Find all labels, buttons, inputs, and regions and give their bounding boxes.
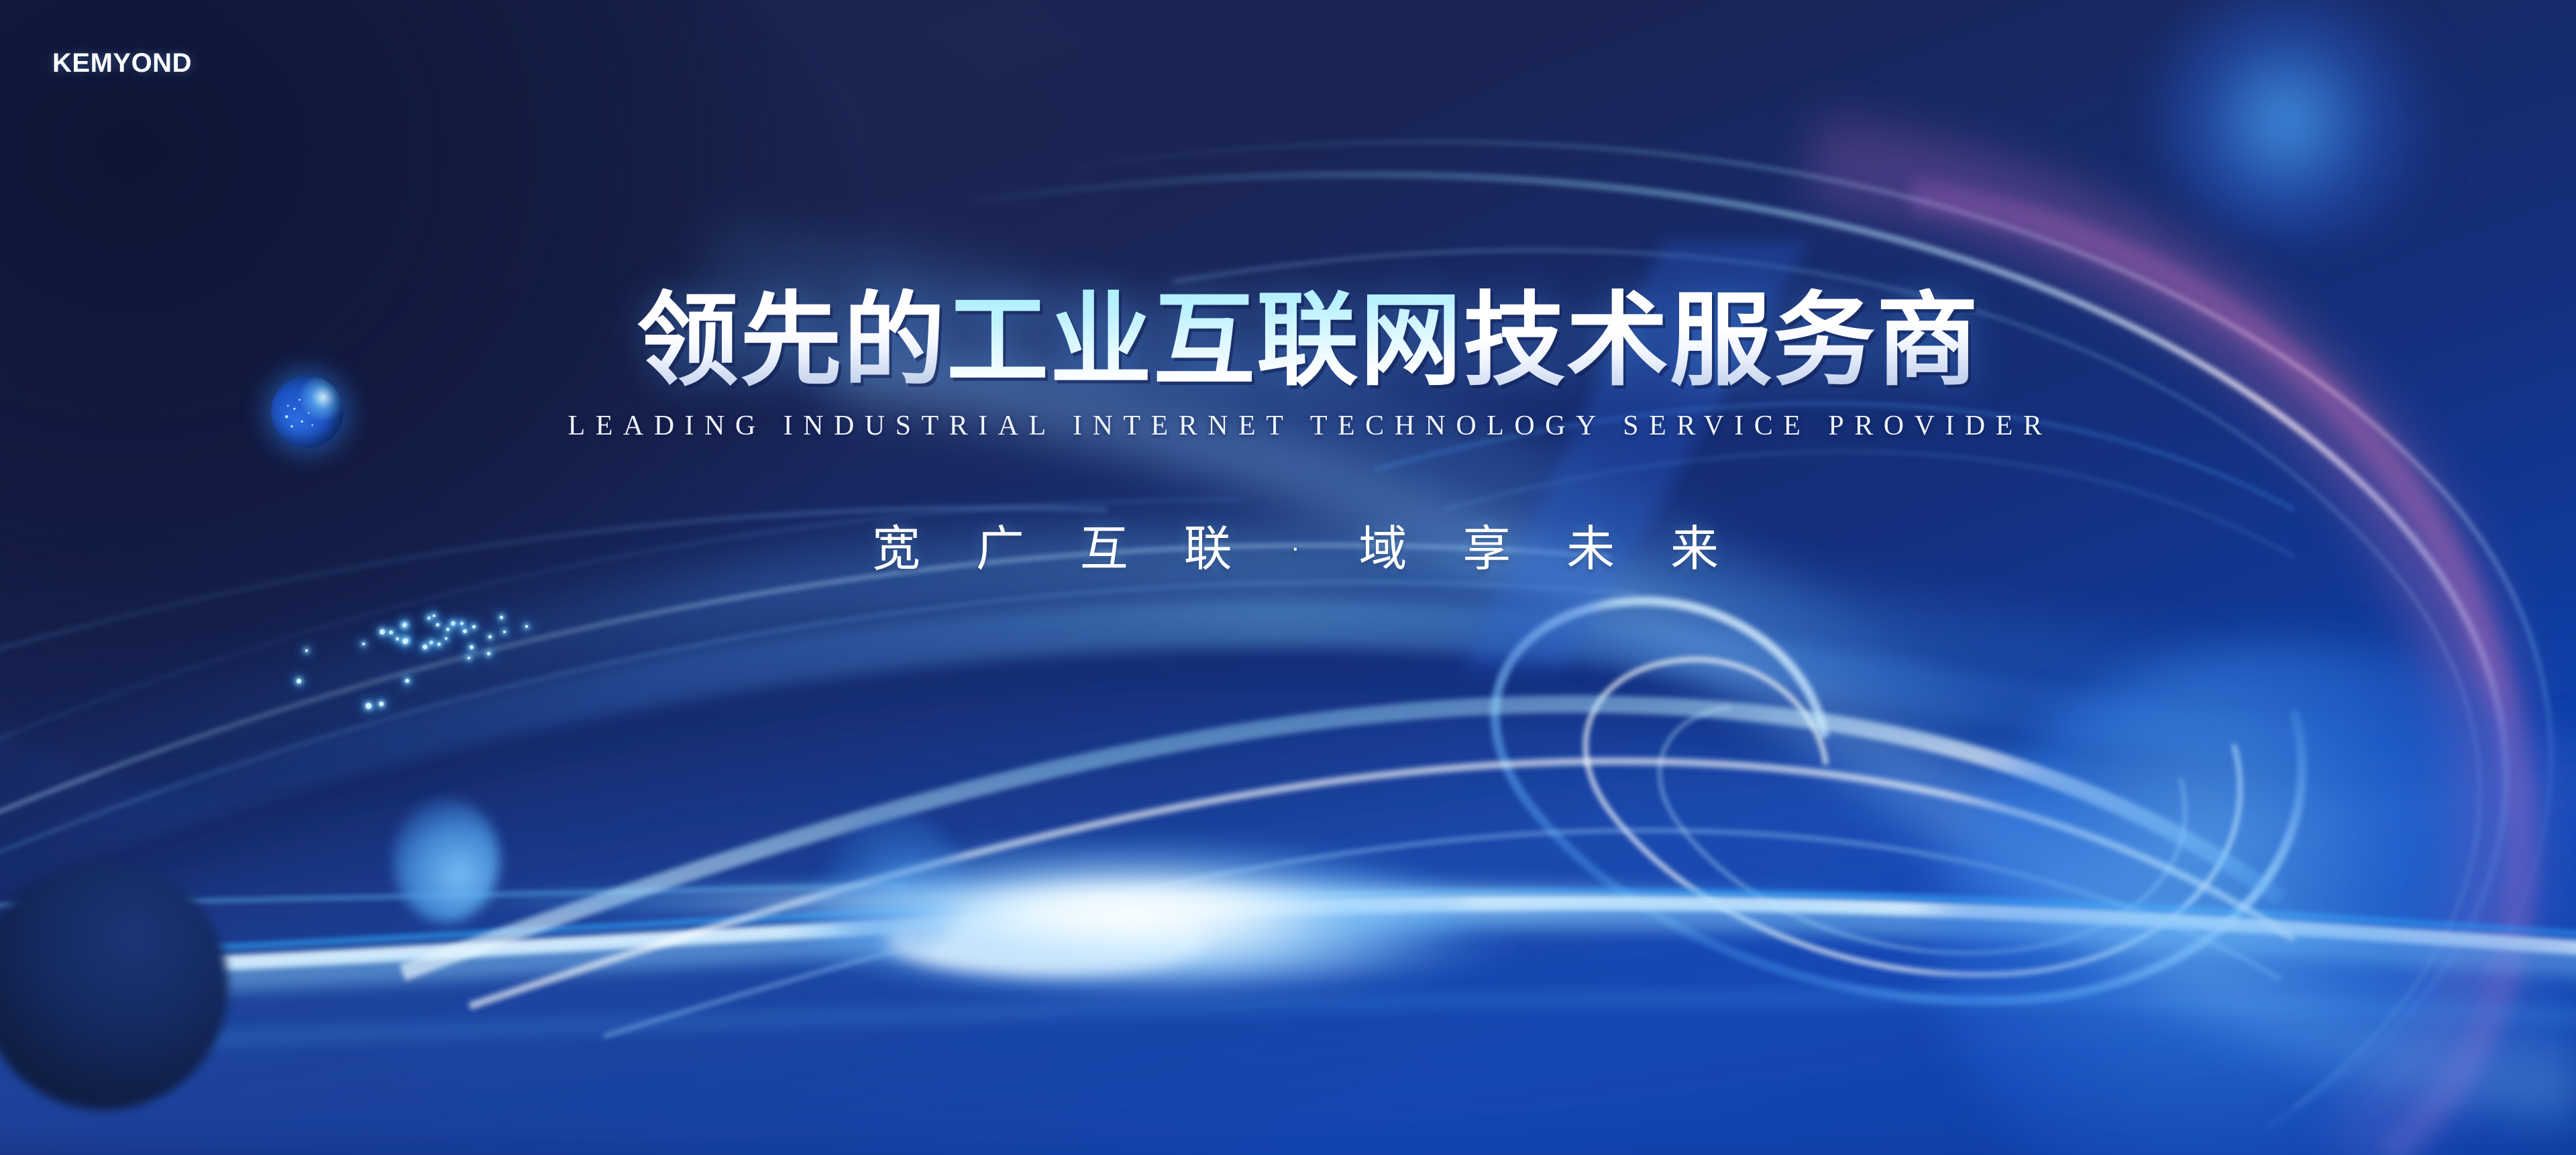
particle-dot — [405, 639, 409, 642]
headline-segment-1: 领先的 — [637, 288, 947, 392]
promo-banner: KEMYOND 领先的工业互联网技术服务商 LEADING INDUSTRIAL… — [0, 0, 2576, 1155]
particle-dot — [402, 639, 408, 644]
center-light-streak — [480, 877, 1889, 924]
particle-dot — [488, 635, 492, 639]
hero-copy: 领先的工业互联网技术服务商 LEADING INDUSTRIAL INTERNE… — [0, 288, 2576, 580]
particle-dot — [402, 624, 406, 627]
particle-dot — [433, 614, 435, 617]
page-title: 领先的工业互联网技术服务商 — [0, 288, 2576, 392]
particle-dot — [380, 629, 385, 635]
particle-dot — [305, 649, 308, 652]
particle-dot — [503, 630, 506, 633]
particle-dot — [487, 652, 490, 655]
particle-dot — [500, 616, 503, 619]
particle-dot — [429, 641, 433, 645]
top-right-glow-blob — [2147, 0, 2455, 241]
particle-dot — [463, 629, 467, 633]
headline-segment-3: 技术服务商 — [1463, 288, 1980, 392]
particle-dot — [436, 623, 439, 626]
particle-dot — [437, 643, 441, 646]
right-globe-glow — [1932, 644, 2576, 1155]
particle-dot — [470, 645, 474, 649]
particle-dot — [451, 621, 455, 626]
particle-dot — [525, 625, 528, 628]
light-sphere-decoration — [392, 798, 500, 922]
particle-dot — [362, 643, 365, 645]
subtitle-english: LEADING INDUSTRIAL INTERNET TECHNOLOGY S… — [0, 410, 2576, 442]
center-light-core — [798, 842, 1469, 983]
particle-dot — [427, 616, 431, 620]
particle-dot — [402, 622, 407, 627]
particle-dot — [389, 630, 393, 635]
particle-dot — [460, 622, 464, 625]
particle-dot — [445, 637, 447, 640]
particle-dot — [446, 628, 449, 631]
particle-dot — [468, 657, 470, 659]
mid-sphere-decoration — [825, 815, 966, 956]
particle-dot — [472, 625, 476, 628]
dark-sphere-decoration — [0, 862, 228, 1110]
particle-dot — [405, 679, 409, 683]
particle-dot — [297, 679, 301, 683]
particle-dot — [379, 702, 384, 706]
headline-segment-2: 工业互联网 — [947, 288, 1463, 392]
particle-dot — [396, 637, 399, 641]
brand-logo[interactable]: KEMYOND — [52, 50, 192, 76]
tagline-slogan: 宽 广 互 联 · 域 享 未 来 — [0, 509, 2576, 580]
particle-dot — [423, 645, 427, 649]
particle-dot — [366, 703, 372, 709]
